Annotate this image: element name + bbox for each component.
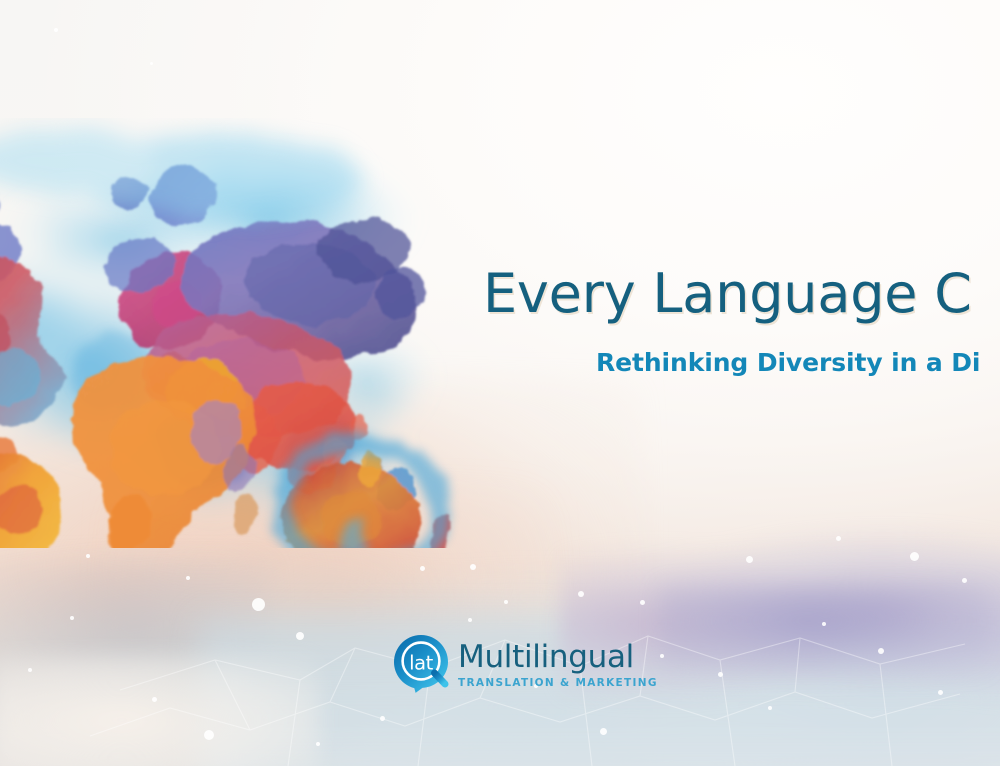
banner-canvas: Every Language C Rethinking Diversity in… (0, 0, 1000, 766)
svg-text:lat: lat (409, 651, 434, 674)
page-subtitle: Rethinking Diversity in a Di (596, 349, 1000, 378)
brand-logo[interactable]: lat Multilingual TRANSLATION & MARKETING (393, 634, 658, 694)
logo-typography: Multilingual TRANSLATION & MARKETING (458, 640, 658, 689)
watercolor-world-map (0, 118, 510, 548)
lat-speech-bubble-icon: lat (393, 634, 449, 694)
logo-tagline: TRANSLATION & MARKETING (458, 678, 658, 689)
page-title: Every Language C (483, 265, 1000, 323)
headline-block: Every Language C Rethinking Diversity in… (483, 265, 1000, 378)
logo-wordmark: Multilingual (458, 642, 658, 673)
